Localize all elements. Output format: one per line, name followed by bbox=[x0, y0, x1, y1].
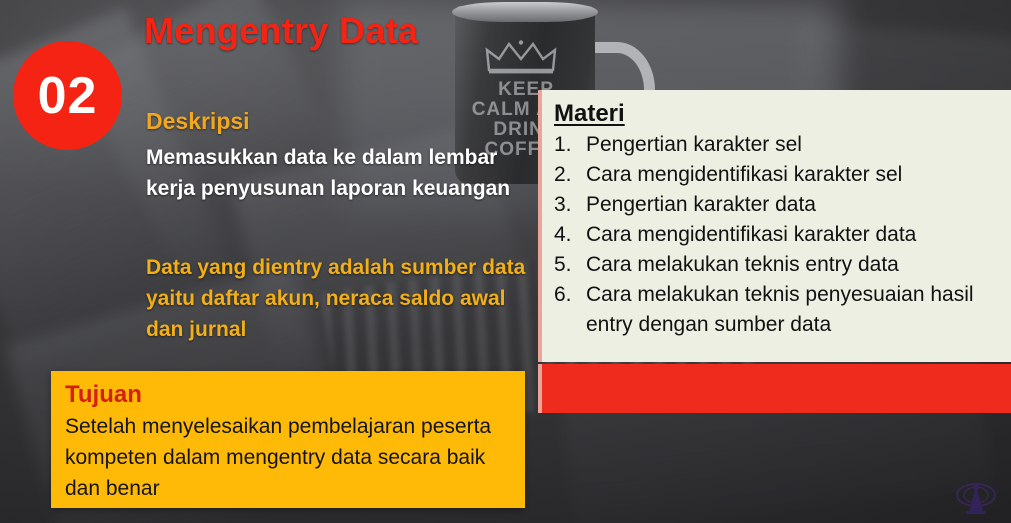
tujuan-heading: Tujuan bbox=[65, 380, 511, 410]
list-item: 6. Cara melakukan teknis penyesuaian has… bbox=[554, 280, 1003, 340]
list-item: 2. Cara mengidentifikasi karakter sel bbox=[554, 160, 1003, 190]
list-item: 5. Cara melakukan teknis entry data bbox=[554, 250, 1003, 280]
mug-rim bbox=[452, 2, 598, 22]
tujuan-body-text: Setelah menyelesaikan pembelajaran peser… bbox=[65, 411, 511, 504]
list-item: 4. Cara mengidentifikasi karakter data bbox=[554, 220, 1003, 250]
materi-red-bar bbox=[538, 364, 1011, 413]
list-item-label: Cara mengidentifikasi karakter data bbox=[586, 220, 1003, 250]
list-item-number: 1. bbox=[554, 130, 586, 160]
deskripsi-white-paragraph: Memasukkan data ke dalam lembar kerja pe… bbox=[146, 142, 516, 204]
list-item-label: Pengertian karakter sel bbox=[586, 130, 1003, 160]
list-item-number: 3. bbox=[554, 190, 586, 220]
tujuan-box: Tujuan Setelah menyelesaikan pembelajara… bbox=[51, 371, 525, 508]
slide-title: Mengentry Data bbox=[144, 10, 418, 52]
materi-heading: Materi bbox=[554, 100, 1003, 128]
organization-logo-watermark bbox=[953, 481, 999, 519]
materi-list: 1. Pengertian karakter sel 2. Cara mengi… bbox=[554, 130, 1003, 340]
list-item: 3. Pengertian karakter data bbox=[554, 190, 1003, 220]
list-item-number: 2. bbox=[554, 160, 586, 190]
crown-icon bbox=[485, 40, 557, 74]
list-item-label: Cara melakukan teknis entry data bbox=[586, 250, 1003, 280]
slide-number-badge: 02 bbox=[13, 41, 122, 150]
list-item-label: Pengertian karakter data bbox=[586, 190, 1003, 220]
slide-number-text: 02 bbox=[38, 70, 98, 122]
list-item: 1. Pengertian karakter sel bbox=[554, 130, 1003, 160]
list-item-label: Cara melakukan teknis penyesuaian hasil … bbox=[586, 280, 1003, 340]
list-item-number: 5. bbox=[554, 250, 586, 280]
list-item-label: Cara mengidentifikasi karakter sel bbox=[586, 160, 1003, 190]
materi-panel: Materi 1. Pengertian karakter sel 2. Car… bbox=[538, 90, 1011, 362]
deskripsi-gold-paragraph: Data yang dientry adalah sumber data yai… bbox=[146, 252, 536, 345]
presentation-slide: KEEP CALM AND DRINK COFFEE 02 Mengentry … bbox=[0, 0, 1011, 523]
list-item-number: 6. bbox=[554, 280, 586, 340]
list-item-number: 4. bbox=[554, 220, 586, 250]
deskripsi-heading: Deskripsi bbox=[146, 108, 250, 135]
